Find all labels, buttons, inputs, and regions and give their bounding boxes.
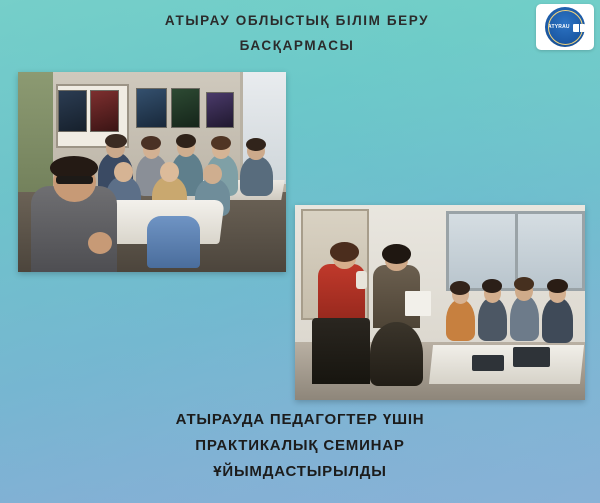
eyeglasses-icon — [56, 176, 94, 184]
attendee-hair — [450, 281, 470, 295]
wall-poster — [90, 90, 119, 132]
speaker-dark-skirt — [370, 322, 422, 386]
wall-poster — [206, 92, 235, 128]
speaker-dark-hair — [382, 244, 411, 264]
wall-poster — [171, 88, 200, 128]
organization-logo: ATYRAU — [536, 4, 594, 50]
header-title-line2: БАСҚАРМАСЫ — [92, 33, 502, 58]
wall-poster — [136, 88, 167, 128]
attendee-hair — [547, 279, 567, 293]
presenter-red-skirt — [312, 318, 370, 384]
presenter-speaking-photo — [295, 205, 585, 400]
attendee-head — [203, 164, 222, 184]
poster-canvas: АТЫРАУ ОБЛЫСТЫҚ БІЛІМ БЕРУ БАСҚАРМАСЫ AT… — [0, 0, 600, 503]
foreground-participant-hand — [88, 232, 112, 254]
emblem-icon: ATYRAU — [545, 7, 585, 47]
attendee — [542, 297, 574, 344]
attendee-head — [160, 162, 179, 182]
microphone-icon — [356, 271, 368, 289]
caption-line-3: ҰЙЫМДАСТЫРЫЛДЫ — [60, 459, 540, 485]
wall-poster — [58, 90, 87, 132]
attendee — [478, 297, 507, 342]
work-table — [429, 345, 584, 384]
attendee-hair — [211, 136, 231, 150]
paper-sheet — [405, 291, 431, 316]
header-title: АТЫРАУ ОБЛЫСТЫҚ БІЛІМ БЕРУ БАСҚАРМАСЫ — [92, 8, 502, 58]
attendee — [446, 299, 475, 342]
attendee-hair — [482, 279, 502, 293]
blue-chair — [147, 216, 201, 268]
book-icon — [573, 24, 585, 32]
attendee — [240, 156, 272, 196]
laptop — [513, 347, 551, 367]
laptop — [472, 355, 504, 371]
presenter-red-hair — [330, 242, 359, 262]
photo-1-scene — [18, 72, 286, 272]
attendee — [510, 295, 539, 342]
attendee-hair — [105, 134, 126, 148]
poster-caption: АТЫРАУДА ПЕДАГОГТЕР ҮШІН ПРАКТИКАЛЫҚ СЕМ… — [60, 407, 540, 485]
attendee-hair — [514, 277, 534, 291]
window-mullion — [515, 214, 518, 288]
photo-2-scene — [295, 205, 585, 400]
classroom-seminar-participants-photo — [18, 72, 286, 272]
attendee-hair — [246, 138, 266, 151]
header-title-line1: АТЫРАУ ОБЛЫСТЫҚ БІЛІМ БЕРУ — [92, 8, 502, 33]
caption-line-1: АТЫРАУДА ПЕДАГОГТЕР ҮШІН — [60, 407, 540, 433]
caption-line-2: ПРАКТИКАЛЫҚ СЕМИНАР — [60, 433, 540, 459]
